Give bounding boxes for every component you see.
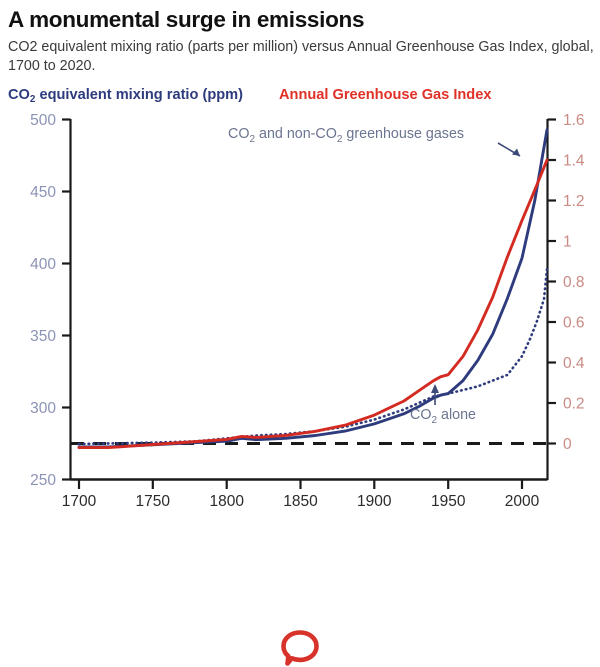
bottom-tick-label-1900: 1900 xyxy=(357,493,392,510)
left-tick-label-350: 350 xyxy=(30,328,56,345)
legend-left-pre: CO xyxy=(8,87,30,103)
chart-subtitle: CO2 equivalent mixing ratio (parts per m… xyxy=(8,38,594,77)
chart-legend: CO2 equivalent mixing ratio (ppm) Annual… xyxy=(8,87,594,103)
left-axis-tick-labels: 500 450 400 350 300 250 xyxy=(30,112,56,489)
annotation-lower: CO2 alone xyxy=(410,407,476,426)
axis-lines xyxy=(71,119,548,480)
legend-left-post: equivalent mixing ratio (ppm) xyxy=(35,87,243,103)
right-axis-tick-labels: 1.6 1.4 1.2 1 0.8 0.6 0.4 0.2 0 xyxy=(563,112,585,453)
speech-bubble-logo xyxy=(278,629,322,667)
chart-figure: A monumental surge in emissions CO2 equi… xyxy=(0,0,600,562)
bottom-tick-label-1700: 1700 xyxy=(62,493,97,510)
left-axis-ticks xyxy=(62,120,71,480)
chart-svg: 500 450 400 350 300 250 1.6 xyxy=(0,109,600,557)
bottom-axis-tick-labels: 1700 1750 1800 1850 1900 1950 2000 xyxy=(62,493,540,510)
left-tick-label-450: 450 xyxy=(30,184,56,201)
right-tick-label-1-2: 1.2 xyxy=(563,193,585,210)
annotation-lower-post: alone xyxy=(437,407,476,423)
right-axis-ticks xyxy=(548,120,557,444)
series-co2-alone xyxy=(79,269,547,444)
annotation-lower-pre: CO xyxy=(410,407,431,423)
right-tick-label-0-4: 0.4 xyxy=(563,355,585,372)
annotation-upper-post: greenhouse gases xyxy=(342,126,464,142)
right-tick-label-0-6: 0.6 xyxy=(563,315,585,332)
right-tick-label-1-4: 1.4 xyxy=(563,153,585,170)
left-tick-label-300: 300 xyxy=(30,400,56,417)
right-tick-label-1-6: 1.6 xyxy=(563,112,585,129)
left-tick-label-400: 400 xyxy=(30,256,56,273)
right-tick-label-0: 0 xyxy=(563,436,572,453)
legend-item-aggi: Annual Greenhouse Gas Index xyxy=(279,87,491,103)
left-tick-label-500: 500 xyxy=(30,112,56,129)
legend-left-subscript: 2 xyxy=(30,94,36,105)
bottom-axis-ticks xyxy=(79,480,522,490)
right-tick-label-0-8: 0.8 xyxy=(563,274,585,291)
legend-item-co2-equivalent: CO2 equivalent mixing ratio (ppm) xyxy=(8,87,243,103)
annotation-upper-arrow xyxy=(498,143,520,156)
bottom-tick-label-1950: 1950 xyxy=(431,493,466,510)
plot-area: 500 450 400 350 300 250 1.6 xyxy=(0,109,600,557)
series-co2-equivalent xyxy=(79,130,547,447)
page-title: A monumental surge in emissions xyxy=(8,8,594,33)
annotation-upper-mid: and non-CO xyxy=(255,126,337,142)
left-tick-label-250: 250 xyxy=(30,472,56,489)
annotation-upper-pre: CO xyxy=(228,126,249,142)
bottom-tick-label-1850: 1850 xyxy=(283,493,318,510)
right-tick-label-1: 1 xyxy=(563,234,572,251)
annotation-upper: CO2 and non-CO2 greenhouse gases xyxy=(228,126,464,145)
bottom-tick-label-1800: 1800 xyxy=(209,493,244,510)
bottom-tick-label-1750: 1750 xyxy=(136,493,171,510)
right-tick-label-0-2: 0.2 xyxy=(563,396,585,413)
bottom-tick-label-2000: 2000 xyxy=(505,493,540,510)
series-aggi xyxy=(79,160,547,448)
